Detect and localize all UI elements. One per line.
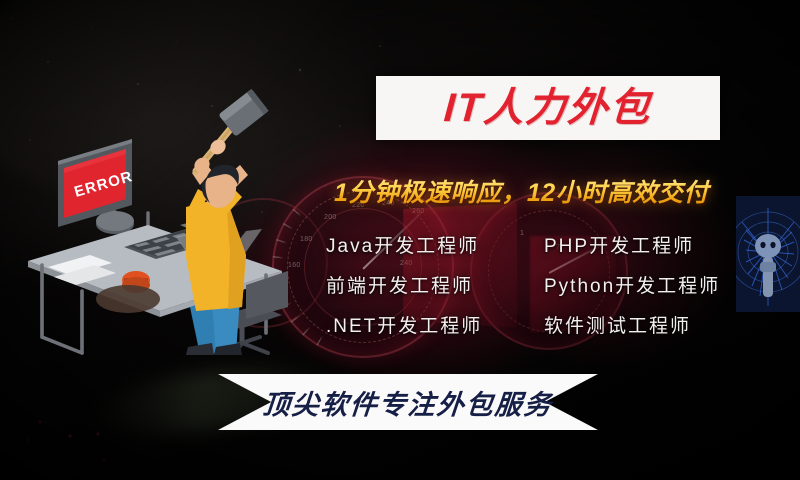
service-item-java: Java开发工程师 [326, 231, 544, 258]
service-item-dotnet: .NET开发工程师 [326, 311, 544, 338]
service-item-frontend: 前端开发工程师 [326, 271, 544, 298]
monitor: ERROR [58, 139, 135, 234]
service-item-php: PHP开发工程师 [544, 231, 788, 258]
poster-canvas: 180 200 220 240 260 160 240 40 7 1 [0, 0, 800, 480]
subtitle-tagline: 1分钟极速响应，12小时高效交付 [334, 174, 786, 208]
developer-smashing-desk-illustration: ERROR [20, 85, 300, 355]
title-banner: IT人力外包 [376, 76, 720, 140]
service-list: Java开发工程师 PHP开发工程师 前端开发工程师 Python开发工程师 .… [326, 224, 788, 344]
bottom-ribbon [218, 374, 598, 430]
service-item-python: Python开发工程师 [544, 271, 788, 298]
service-item-qa: 软件测试工程师 [544, 311, 788, 338]
page-title: IT人力外包 [443, 88, 653, 128]
